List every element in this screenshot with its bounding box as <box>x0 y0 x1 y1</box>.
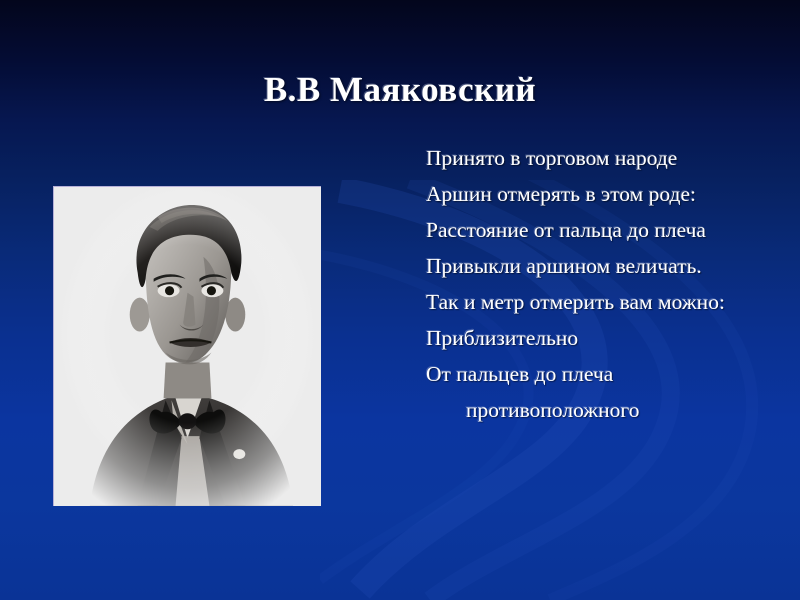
portrait-photo <box>53 186 321 506</box>
page-title: В.В Маяковский <box>0 70 800 110</box>
poem-line: Приблизительно <box>426 320 778 356</box>
poem-text-block: Принято в торговом народе Аршин отмерять… <box>426 140 778 428</box>
poem-line: Аршин отмерять в этом роде: <box>426 176 778 212</box>
poem-line: Привыкли аршином величать. <box>426 248 778 284</box>
poem-line: Принято в торговом народе <box>426 140 778 176</box>
poem-line: Так и метр отмерить вам можно: <box>426 284 778 320</box>
poem-line: От пальцев до плеча противоположного <box>426 356 778 428</box>
presentation-slide: В.В Маяковский <box>0 0 800 600</box>
poem-line: Расстояние от пальца до плеча <box>426 212 778 248</box>
